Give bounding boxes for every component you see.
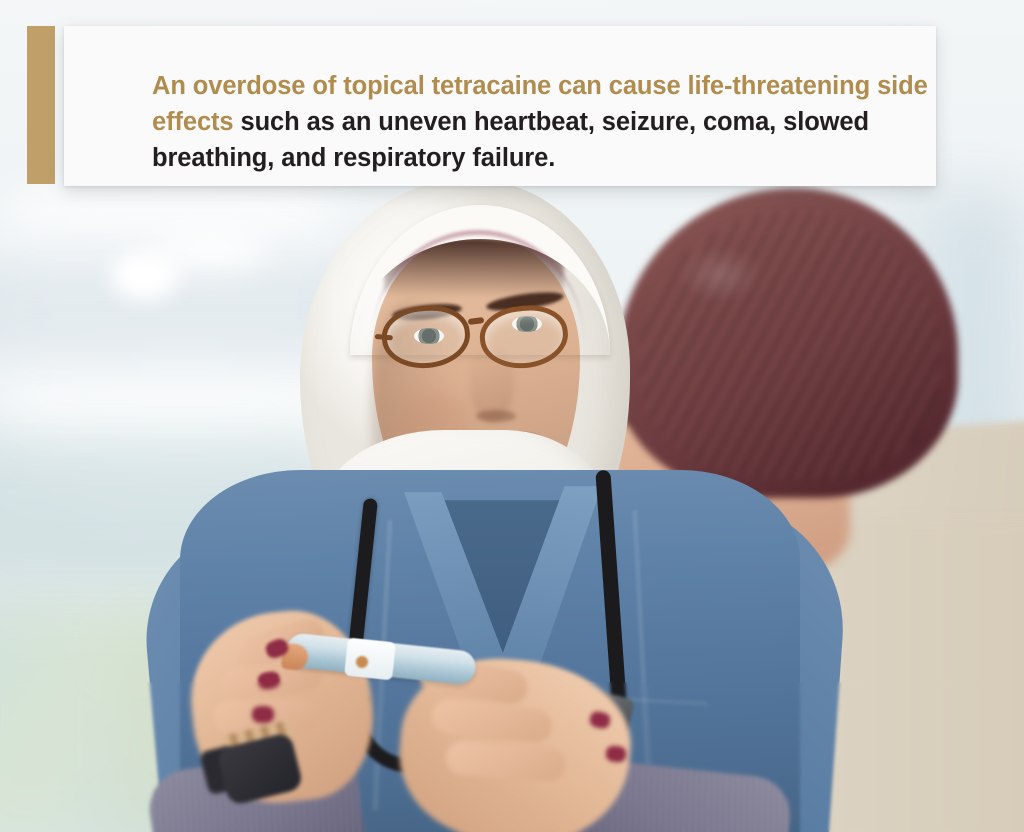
callout-accent-bar bbox=[27, 26, 55, 184]
callout-paragraph: An overdose of topical tetracaine can ca… bbox=[152, 68, 988, 176]
injection-pen-label bbox=[344, 638, 396, 681]
fingernail bbox=[252, 706, 274, 723]
eyeglass-bridge bbox=[468, 317, 485, 325]
banner-root: An overdose of topical tetracaine can ca… bbox=[0, 0, 1024, 832]
injection-pen-indicator bbox=[356, 656, 368, 668]
eyeglass-lens-left bbox=[379, 302, 472, 371]
nurse-nostril bbox=[476, 410, 516, 422]
callout-body-text: such as an uneven heartbeat, seizure, co… bbox=[152, 108, 869, 172]
callout-card: An overdose of topical tetracaine can ca… bbox=[64, 26, 936, 186]
fingernail bbox=[605, 745, 627, 763]
ceiling-light-glow bbox=[150, 230, 270, 270]
